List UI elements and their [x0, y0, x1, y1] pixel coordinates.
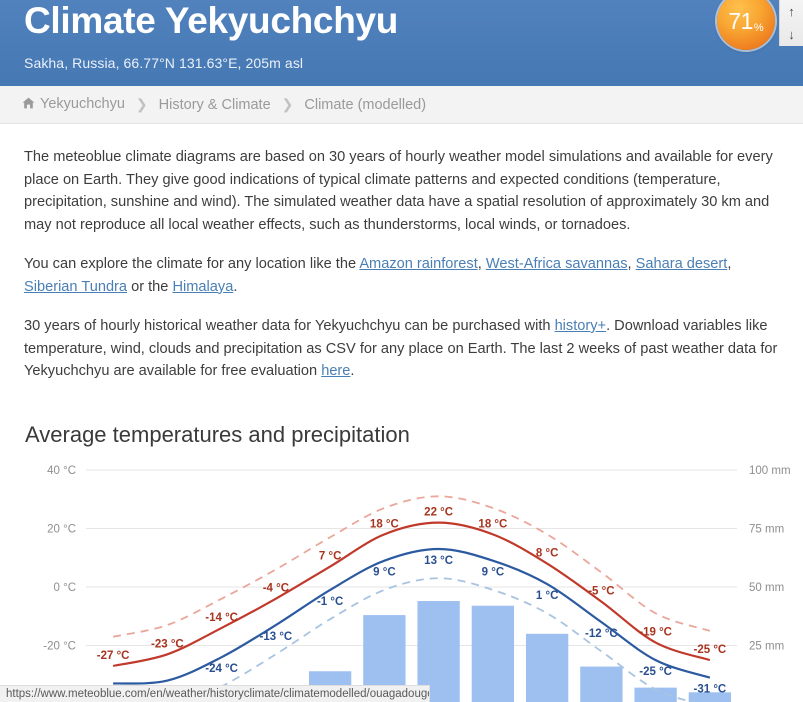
percent-circle: 71 % — [717, 0, 775, 50]
breadcrumb-separator-2: ❯ — [280, 96, 296, 113]
series-value-label: -4 °C — [263, 582, 289, 594]
series-value-label: 13 °C — [424, 554, 453, 566]
breadcrumb-separator-1: ❯ — [134, 96, 150, 113]
series-value-label: 8 °C — [536, 547, 559, 559]
explore-suffix: . — [233, 279, 237, 295]
breadcrumb-label-home: Yekyuchchyu — [40, 96, 125, 112]
series-value-label: -27 °C — [97, 649, 130, 661]
series-value-label: 22 °C — [424, 506, 453, 518]
link-sahara-desert[interactable]: Sahara desert — [636, 256, 728, 272]
explore-sep-2: , — [628, 256, 636, 272]
breadcrumb-item-climate-modelled[interactable]: Climate (modelled) — [304, 97, 426, 113]
series-value-label: 7 °C — [319, 550, 342, 562]
precipitation-bar[interactable] — [526, 633, 568, 702]
series-value-label: -31 °C — [694, 683, 727, 695]
link-amazon-rainforest[interactable]: Amazon rainforest — [359, 256, 477, 272]
percent-value: 71 — [728, 10, 753, 33]
explore-sep-3: , — [727, 256, 731, 272]
history-paragraph: 30 years of hourly historical weather da… — [24, 315, 779, 383]
page-title: Climate Yekyuchchyu — [24, 0, 779, 39]
sunshine-percent-badge[interactable]: 71 % — [717, 0, 775, 50]
link-himalaya[interactable]: Himalaya — [172, 279, 233, 295]
link-here[interactable]: here — [321, 363, 350, 379]
article-content: The meteoblue climate diagrams are based… — [0, 124, 803, 383]
series-value-label: -24 °C — [205, 663, 238, 675]
history-suffix: . — [350, 363, 354, 379]
series-value-label: -14 °C — [205, 611, 238, 623]
link-west-africa-savannas[interactable]: West-Africa savannas — [486, 256, 628, 272]
y-axis-tick-temp: 20 °C — [47, 523, 76, 535]
arrow-up-icon[interactable]: ↑ — [788, 5, 795, 18]
series-value-label: -25 °C — [694, 644, 727, 656]
explore-mid: or the — [127, 279, 172, 295]
y-axis-tick-precip: 50 mm — [749, 582, 784, 594]
location-subtitle: Sakha, Russia, 66.77°N 131.63°E, 205m as… — [24, 39, 779, 71]
link-siberian-tundra[interactable]: Siberian Tundra — [24, 279, 127, 295]
explore-sep-1: , — [478, 256, 486, 272]
y-axis-tick-precip: 100 mm — [749, 465, 791, 477]
series-line — [113, 522, 710, 665]
home-icon — [22, 97, 35, 113]
series-value-label: 18 °C — [478, 518, 507, 530]
history-prefix: 30 years of hourly historical weather da… — [24, 318, 555, 334]
series-value-label: 9 °C — [482, 566, 505, 578]
y-axis-tick-temp: 0 °C — [54, 582, 77, 594]
precipitation-bar[interactable] — [472, 605, 514, 702]
intro-paragraph: The meteoblue climate diagrams are based… — [24, 146, 779, 236]
breadcrumb-item-home[interactable]: Yekyuchchyu — [22, 96, 125, 113]
link-history-plus[interactable]: history+ — [555, 318, 607, 334]
breadcrumb-item-history-climate[interactable]: History & Climate — [159, 97, 271, 113]
series-value-label: -23 °C — [151, 638, 184, 650]
scroll-arrows[interactable]: ↑ ↓ — [779, 0, 803, 46]
page-header: Climate Yekyuchchyu Sakha, Russia, 66.77… — [0, 0, 803, 86]
precipitation-bar[interactable] — [580, 666, 622, 702]
series-value-label: -12 °C — [585, 628, 618, 640]
percent-unit: % — [753, 22, 764, 50]
y-axis-tick-precip: 25 mm — [749, 640, 784, 652]
climate-chart[interactable]: 40 °C20 °C0 °C-20 °C-40 °C100 mm75 mm50 … — [0, 458, 803, 702]
y-axis-tick-temp: 40 °C — [47, 465, 76, 477]
series-value-label: 1 °C — [536, 590, 559, 602]
series-value-label: -1 °C — [317, 595, 343, 607]
series-value-label: 9 °C — [373, 566, 396, 578]
y-axis-tick-precip: 75 mm — [749, 523, 784, 535]
arrow-down-icon[interactable]: ↓ — [788, 28, 795, 41]
series-value-label: -13 °C — [260, 631, 293, 643]
series-value-label: -19 °C — [639, 626, 672, 638]
series-value-label: 18 °C — [370, 518, 399, 530]
explore-prefix: You can explore the climate for any loca… — [24, 256, 359, 272]
series-value-label: -25 °C — [639, 666, 672, 678]
series-value-label: -5 °C — [588, 585, 614, 597]
climate-chart-svg[interactable]: 40 °C20 °C0 °C-20 °C-40 °C100 mm75 mm50 … — [0, 458, 803, 702]
browser-status-bar: https://www.meteoblue.com/en/weather/his… — [0, 685, 430, 702]
y-axis-tick-temp: -20 °C — [43, 640, 76, 652]
breadcrumb: Yekyuchchyu ❯ History & Climate ❯ Climat… — [0, 86, 803, 124]
chart-title: Average temperatures and precipitation — [0, 400, 803, 448]
explore-paragraph: You can explore the climate for any loca… — [24, 253, 779, 298]
